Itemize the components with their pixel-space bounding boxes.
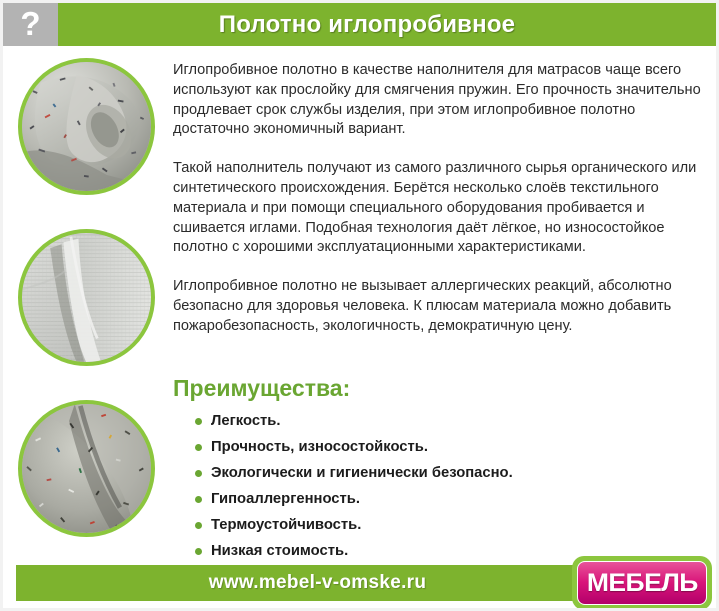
photo-image-2 bbox=[22, 233, 151, 362]
list-item: Экологически и гигиенически безопасно. bbox=[195, 462, 703, 484]
bullet-icon bbox=[195, 548, 202, 555]
needle-punched-fabric-fold-photo bbox=[18, 229, 155, 366]
page-header: ? Полотно иглопробивное bbox=[3, 3, 716, 46]
paragraph-3: Иглопробивное полотно не вызывает аллерг… bbox=[173, 277, 703, 336]
list-item: Легкость. bbox=[195, 410, 703, 432]
content-column: Иглопробивное полотно в качестве наполни… bbox=[173, 61, 703, 566]
list-item: Гипоаллергенность. bbox=[195, 488, 703, 510]
photo-column bbox=[18, 58, 166, 537]
paragraph-2: Такой наполнитель получают из самого раз… bbox=[173, 159, 703, 258]
bullet-icon bbox=[195, 522, 202, 529]
needle-punched-felt-roll-photo bbox=[18, 58, 155, 195]
paragraph-1: Иглопробивное полотно в качестве наполни… bbox=[173, 61, 703, 140]
mebel-logo[interactable]: МЕБЕЛЬ bbox=[572, 556, 712, 610]
list-item: Прочность, износостойкость. bbox=[195, 436, 703, 458]
list-item-label: Экологически и гигиенически безопасно. bbox=[211, 465, 513, 481]
list-item-label: Гипоаллергенность. bbox=[211, 491, 360, 507]
needle-punched-felt-texture-photo bbox=[18, 400, 155, 537]
question-mark-glyph: ? bbox=[20, 7, 40, 40]
logo-plate: МЕБЕЛЬ bbox=[577, 561, 707, 605]
header-title-container: Полотно иглопробивное bbox=[58, 3, 716, 46]
bullet-icon bbox=[195, 444, 202, 451]
page-footer: www.mebel-v-omske.ru МЕБЕЛЬ bbox=[16, 565, 703, 601]
question-mark-icon[interactable]: ? bbox=[3, 3, 58, 46]
list-item: Термоустойчивость. bbox=[195, 514, 703, 536]
website-url[interactable]: www.mebel-v-omske.ru bbox=[0, 572, 661, 594]
bullet-icon bbox=[195, 496, 202, 503]
photo-image-3 bbox=[22, 404, 151, 533]
bullet-icon bbox=[195, 470, 202, 477]
advantages-list: Легкость. Прочность, износостойкость. Эк… bbox=[173, 410, 703, 562]
logo-text: МЕБЕЛЬ bbox=[587, 571, 698, 596]
page-title: Полотно иглопробивное bbox=[219, 11, 515, 39]
list-item-label: Низкая стоимость. bbox=[211, 543, 348, 559]
bullet-icon bbox=[195, 418, 202, 425]
infographic-page: ? Полотно иглопробивное bbox=[0, 0, 719, 611]
list-item-label: Прочность, износостойкость. bbox=[211, 439, 428, 455]
photo-image-1 bbox=[22, 62, 151, 191]
list-item-label: Легкость. bbox=[211, 413, 281, 429]
advantages-heading: Преимущества: bbox=[173, 375, 703, 402]
list-item-label: Термоустойчивость. bbox=[211, 517, 361, 533]
